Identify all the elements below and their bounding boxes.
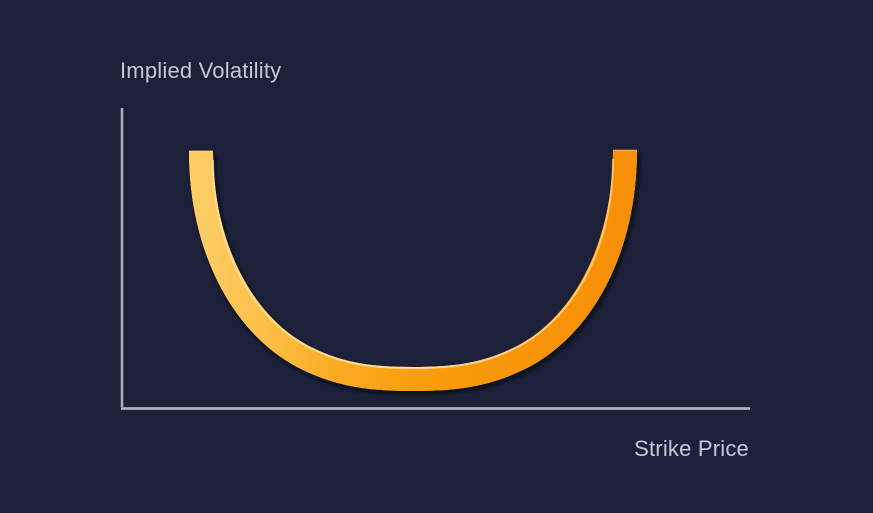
chart-canvas: Implied Volatility Strike Price (0, 0, 873, 513)
volatility-smile-chart: Implied Volatility Strike Price (0, 0, 873, 513)
volatility-smile-curve[interactable] (201, 150, 625, 379)
y-axis-title: Implied Volatility (120, 58, 281, 83)
x-axis-title: Strike Price (634, 436, 749, 461)
volatility-smile-curve-shadow (201, 150, 625, 379)
